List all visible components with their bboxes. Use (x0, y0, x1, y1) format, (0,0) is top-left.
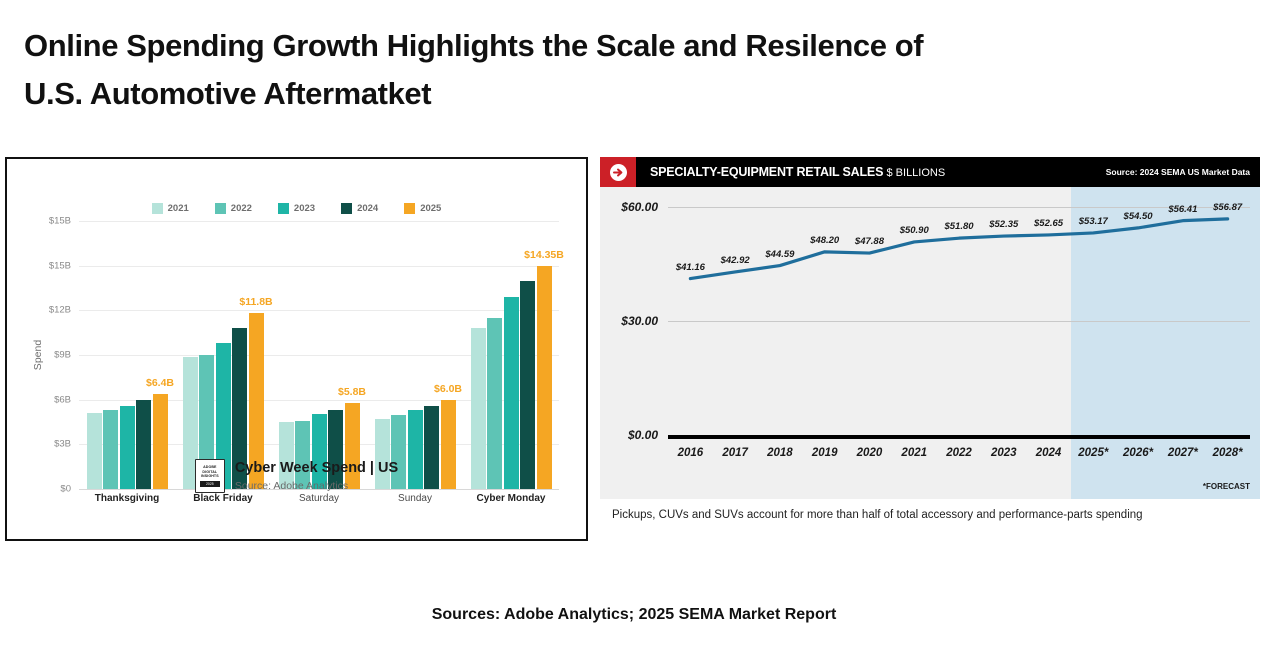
sema-plot-area: $0.00$30.00$60.00$41.16$42.92$44.59$48.2… (668, 207, 1250, 435)
sema-footnote: Pickups, CUVs and SUVs account for more … (612, 509, 1143, 521)
sema-x-axis-label-2022: 2022 (946, 447, 972, 459)
sema-x-axis-label-2024: 2024 (1036, 447, 1062, 459)
sema-x-axis-label-2017: 2017 (722, 447, 748, 459)
forecast-note: *FORECAST (1203, 482, 1250, 491)
legend-swatch-icon (278, 203, 289, 214)
legend-item-2024[interactable]: 2024 (341, 203, 378, 214)
sema-data-label: $50.90 (900, 225, 929, 236)
x-axis-label-black-friday: Black Friday (178, 493, 268, 504)
sema-header-title-text: SPECIALTY-EQUIPMENT RETAIL SALES (650, 165, 883, 179)
slide-canvas: Online Spending Growth Highlights the Sc… (0, 0, 1268, 663)
sema-x-axis-label-2019: 2019 (812, 447, 838, 459)
y-axis-tick-label: $15B (49, 216, 71, 227)
bar-group: $11.8B (183, 221, 264, 489)
x-axis-label-sunday: Sunday (370, 493, 460, 504)
legend-swatch-icon (404, 203, 415, 214)
legend-swatch-icon (215, 203, 226, 214)
bar-value-label: $5.8B (338, 386, 366, 398)
legend-swatch-icon (341, 203, 352, 214)
x-axis-label-saturday: Saturday (274, 493, 364, 504)
sema-x-axis-label-2016: 2016 (678, 447, 704, 459)
adobe-caption-source: Source: Adobe Analytics (235, 480, 398, 493)
sema-data-label: $42.92 (721, 255, 750, 266)
bar-value-label: $6.4B (146, 377, 174, 389)
bar-chart-bar-groups: $6.4B$11.8B$5.8B$6.0B$14.35B (79, 221, 559, 489)
sema-x-axis-label-2018: 2018 (767, 447, 793, 459)
sema-data-label: $56.87 (1213, 202, 1242, 213)
sema-data-label: $52.65 (1034, 218, 1063, 229)
sema-header-unit: $ BILLIONS (887, 167, 946, 179)
sema-data-label: $53.17 (1079, 216, 1108, 227)
bar-value-label: $6.0B (434, 383, 462, 395)
legend-swatch-icon (152, 203, 163, 214)
sema-data-label: $41.16 (676, 262, 705, 273)
sema-line-chart-panel: SPECIALTY-EQUIPMENT RETAIL SALES $ BILLI… (600, 157, 1260, 529)
sema-x-axis-label-2025f: 2025* (1078, 447, 1108, 459)
sema-header-source: Source: 2024 SEMA US Market Data (1106, 167, 1250, 177)
sema-x-axis-label-2028f: 2028* (1213, 447, 1243, 459)
bar-2024[interactable] (520, 281, 535, 489)
sources-line: Sources: Adobe Analytics; 2025 SEMA Mark… (0, 606, 1268, 624)
bar-chart-x-axis-labels: ThanksgivingBlack FridaySaturdaySundayCy… (79, 493, 559, 504)
sema-x-axis-label-2027f: 2027* (1168, 447, 1198, 459)
x-axis-label-thanksgiving: Thanksgiving (82, 493, 172, 504)
legend-label: 2023 (294, 203, 315, 214)
sema-chart-header: SPECIALTY-EQUIPMENT RETAIL SALES $ BILLI… (600, 157, 1260, 187)
sema-data-label: $47.88 (855, 236, 884, 247)
sema-chart-body: $0.00$30.00$60.00$41.16$42.92$44.59$48.2… (600, 187, 1260, 499)
sema-y-axis-tick-label: $0.00 (628, 428, 658, 442)
bar-group: $5.8B (279, 221, 360, 489)
x-axis-label-cyber-monday: Cyber Monday (466, 493, 556, 504)
legend-label: 2025 (420, 203, 441, 214)
legend-item-2025[interactable]: 2025 (404, 203, 441, 214)
legend-item-2022[interactable]: 2022 (215, 203, 252, 214)
bar-group: $14.35B (471, 221, 552, 489)
y-axis-tick-label: $12B (49, 305, 71, 316)
sema-x-axis-label-2026f: 2026* (1123, 447, 1153, 459)
legend-label: 2022 (231, 203, 252, 214)
sema-x-axis-labels: 2016201720182019202020212022202320242025… (668, 447, 1250, 467)
sema-x-axis-label-2021: 2021 (901, 447, 927, 459)
bar-group: $6.4B (87, 221, 168, 489)
sema-data-label: $56.41 (1168, 204, 1197, 215)
bar-group: $6.0B (375, 221, 456, 489)
sema-header-title: SPECIALTY-EQUIPMENT RETAIL SALES $ BILLI… (650, 165, 945, 179)
adobe-caption: ADOBE DIGITAL INSIGHTS 2025 Cyber Week S… (7, 459, 586, 493)
y-axis-tick-label: $15B (49, 260, 71, 271)
bar-chart-plot-area: $0$3B$6B$9B$12B$15B$15B $6.4B$11.8B$5.8B… (79, 221, 559, 489)
y-axis-tick-label: $6B (54, 394, 71, 405)
adobe-caption-title: Cyber Week Spend | US (235, 459, 398, 477)
bar-value-label: $14.35B (524, 249, 564, 261)
sema-data-label: $44.59 (765, 249, 794, 260)
sema-x-axis-label-2023: 2023 (991, 447, 1017, 459)
legend-label: 2024 (357, 203, 378, 214)
legend-item-2021[interactable]: 2021 (152, 203, 189, 214)
sema-gridline (668, 435, 1250, 439)
bar-chart-y-axis-title-text: Spend (32, 340, 44, 370)
logo-line-3: INSIGHTS (201, 474, 219, 479)
page-title: Online Spending Growth Highlights the Sc… (24, 22, 1144, 118)
sema-data-label: $48.20 (810, 235, 839, 246)
sema-data-label: $51.80 (944, 221, 973, 232)
sema-gridline (668, 207, 1250, 208)
sema-y-axis-tick-label: $30.00 (621, 314, 658, 328)
sema-data-label: $52.35 (989, 219, 1018, 230)
page-title-line-2: U.S. Automotive Aftermatket (24, 70, 1144, 118)
bar-value-label: $11.8B (239, 296, 272, 308)
legend-item-2023[interactable]: 2023 (278, 203, 315, 214)
sema-arrow-badge (600, 157, 636, 187)
arrow-right-icon (610, 164, 627, 181)
sema-x-axis-label-2020: 2020 (857, 447, 883, 459)
adobe-caption-text: Cyber Week Spend | US Source: Adobe Anal… (235, 459, 398, 492)
sema-gridline (668, 321, 1250, 322)
y-axis-tick-label: $9B (54, 350, 71, 361)
sema-y-axis-tick-label: $60.00 (621, 200, 658, 214)
adobe-digital-insights-logo-icon: ADOBE DIGITAL INSIGHTS 2025 (195, 459, 225, 493)
sema-data-label: $54.50 (1124, 211, 1153, 222)
adobe-bar-chart-panel: 20212022202320242025 Spend $0$3B$6B$9B$1… (5, 157, 588, 541)
legend-label: 2021 (168, 203, 189, 214)
bar-2025[interactable]: $14.35B (537, 266, 552, 489)
page-title-line-1: Online Spending Growth Highlights the Sc… (24, 22, 1144, 70)
y-axis-tick-label: $3B (54, 439, 71, 450)
logo-badge: 2025 (200, 481, 220, 487)
bar-chart-legend: 20212022202320242025 (7, 203, 586, 214)
